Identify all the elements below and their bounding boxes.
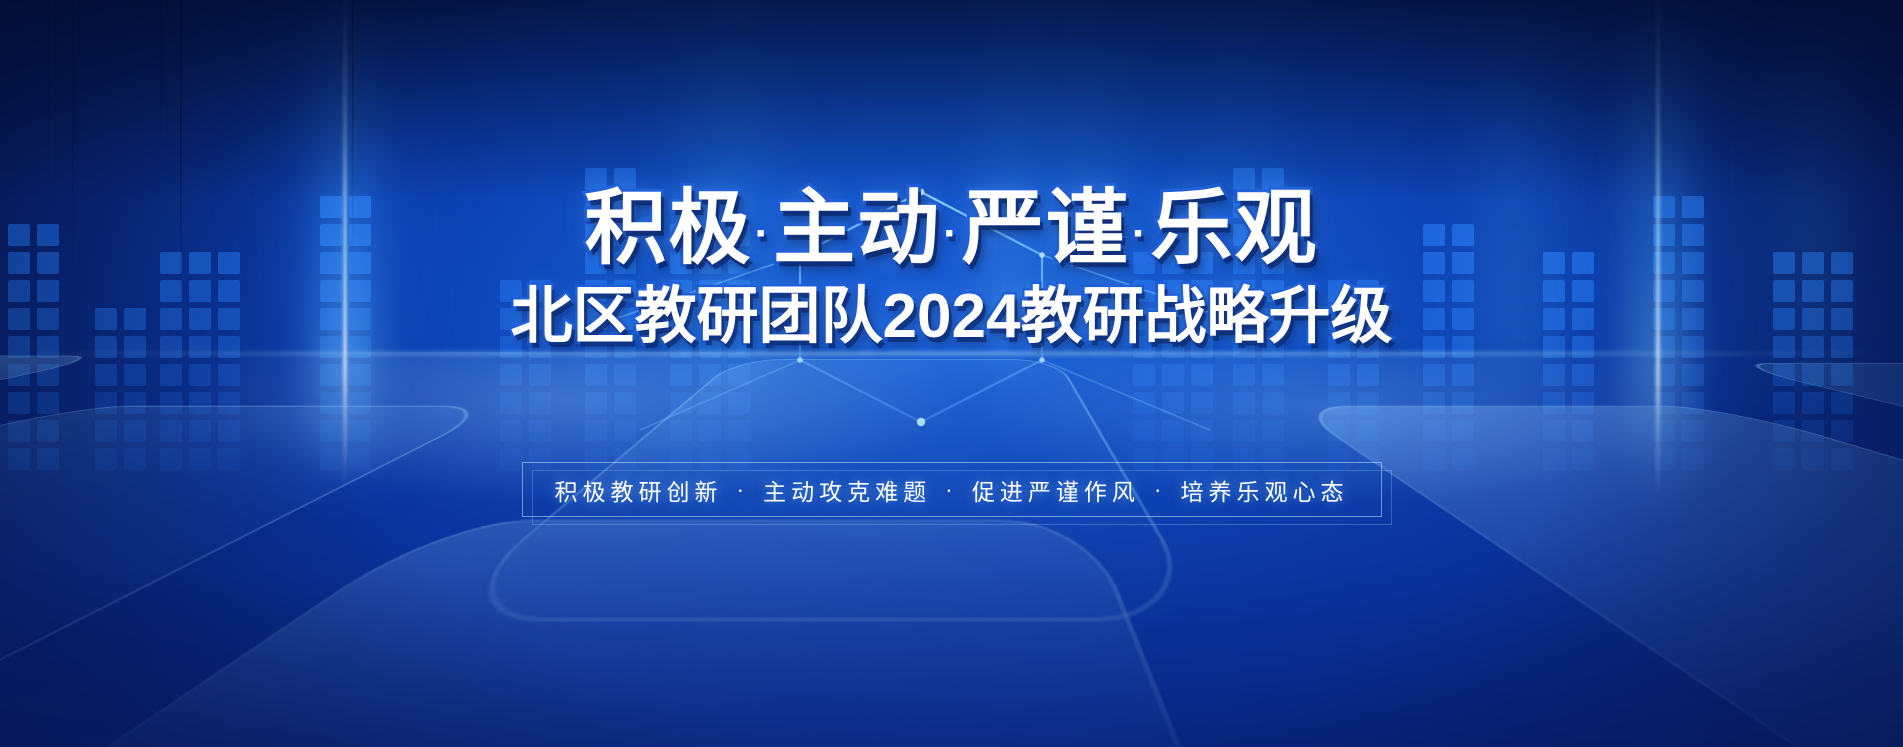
vignette-overlay — [0, 0, 1903, 747]
title-word-3: 严谨 — [962, 183, 1130, 274]
pixel-tower — [500, 280, 551, 470]
floor-tile — [0, 352, 1903, 747]
tagline-container: 积极教研创新 · 主动攻克难题 · 促进严谨作风 · 培养乐观心态 — [522, 462, 1382, 517]
pixel-tower — [670, 224, 750, 470]
event-banner: 积极·主动·严谨·乐观 北区教研团队2024教研战略升级 积极教研创新 · 主动… — [0, 0, 1903, 747]
skyline-right — [1123, 0, 1903, 470]
title-separator-dot: · — [941, 209, 962, 258]
pixel-tower — [95, 308, 146, 470]
title-word-4: 乐观 — [1151, 183, 1319, 274]
glow-column — [1218, 0, 1258, 380]
tagline: 积极教研创新 · 主动攻克难题 · 促进严谨作风 · 培养乐观心态 — [522, 462, 1382, 517]
vertical-streak — [352, 0, 354, 255]
page-title: 积极·主动·严谨·乐观 — [0, 0, 1903, 270]
tagline-separator-dot: · — [722, 476, 763, 503]
floor-tile — [0, 352, 1903, 747]
pixel-tower — [1773, 252, 1853, 470]
pixel-tower — [1653, 196, 1704, 470]
floor-tile — [0, 355, 116, 621]
glow-column — [1490, 0, 1544, 460]
hexagon-wireframe — [0, 0, 1903, 747]
floor-tile — [0, 352, 1903, 747]
tagline-item-3: 促进严谨作风 — [972, 473, 1140, 507]
vertical-streak — [160, 0, 162, 150]
tagline-item-4: 培养乐观心态 — [1181, 473, 1349, 507]
light-beam-left — [322, 0, 368, 490]
tagline-separator-dot: · — [931, 476, 972, 503]
perspective-floor — [0, 352, 1903, 747]
pixel-tower — [1233, 168, 1284, 470]
skyline-left — [0, 0, 760, 470]
floor-light-wash — [0, 352, 1903, 747]
floor-tile — [1721, 363, 1903, 671]
top-shade — [0, 0, 1903, 200]
vertical-streak — [72, 0, 74, 280]
pixel-tower — [160, 252, 240, 470]
title-separator-dot: · — [1130, 209, 1151, 258]
page-subtitle: 北区教研团队2024教研战略升级 — [0, 270, 1903, 348]
title-word-1: 积极 — [584, 183, 752, 274]
pixel-tower — [1133, 252, 1213, 470]
light-beam-center — [990, 0, 1024, 390]
pixel-tower — [1423, 224, 1474, 470]
glow-column — [1790, 0, 1840, 420]
title-separator-dot: · — [753, 209, 774, 258]
floor-tile — [0, 352, 1903, 747]
glow-column — [700, 0, 760, 440]
glow-column — [1058, 0, 1104, 410]
tagline-item-1: 积极教研创新 — [554, 473, 722, 507]
tagline-separator-dot: · — [1140, 476, 1181, 503]
pixel-tower — [585, 168, 636, 470]
floor-tile — [1290, 406, 1903, 747]
pixel-tower — [1543, 252, 1594, 470]
pixel-tower — [1328, 280, 1379, 470]
title-word-2: 主动 — [773, 183, 941, 274]
tagline-item-2: 主动攻克难题 — [763, 473, 931, 507]
light-beam-right — [1635, 0, 1681, 500]
pixel-tower — [8, 224, 59, 470]
vertical-streak — [180, 0, 182, 330]
floor-tile — [0, 406, 503, 747]
floor-horizon-line — [0, 352, 1903, 355]
vertical-streak — [48, 0, 50, 210]
banner-content: 积极·主动·严谨·乐观 北区教研团队2024教研战略升级 — [0, 0, 1903, 348]
pixel-tower — [320, 196, 371, 470]
